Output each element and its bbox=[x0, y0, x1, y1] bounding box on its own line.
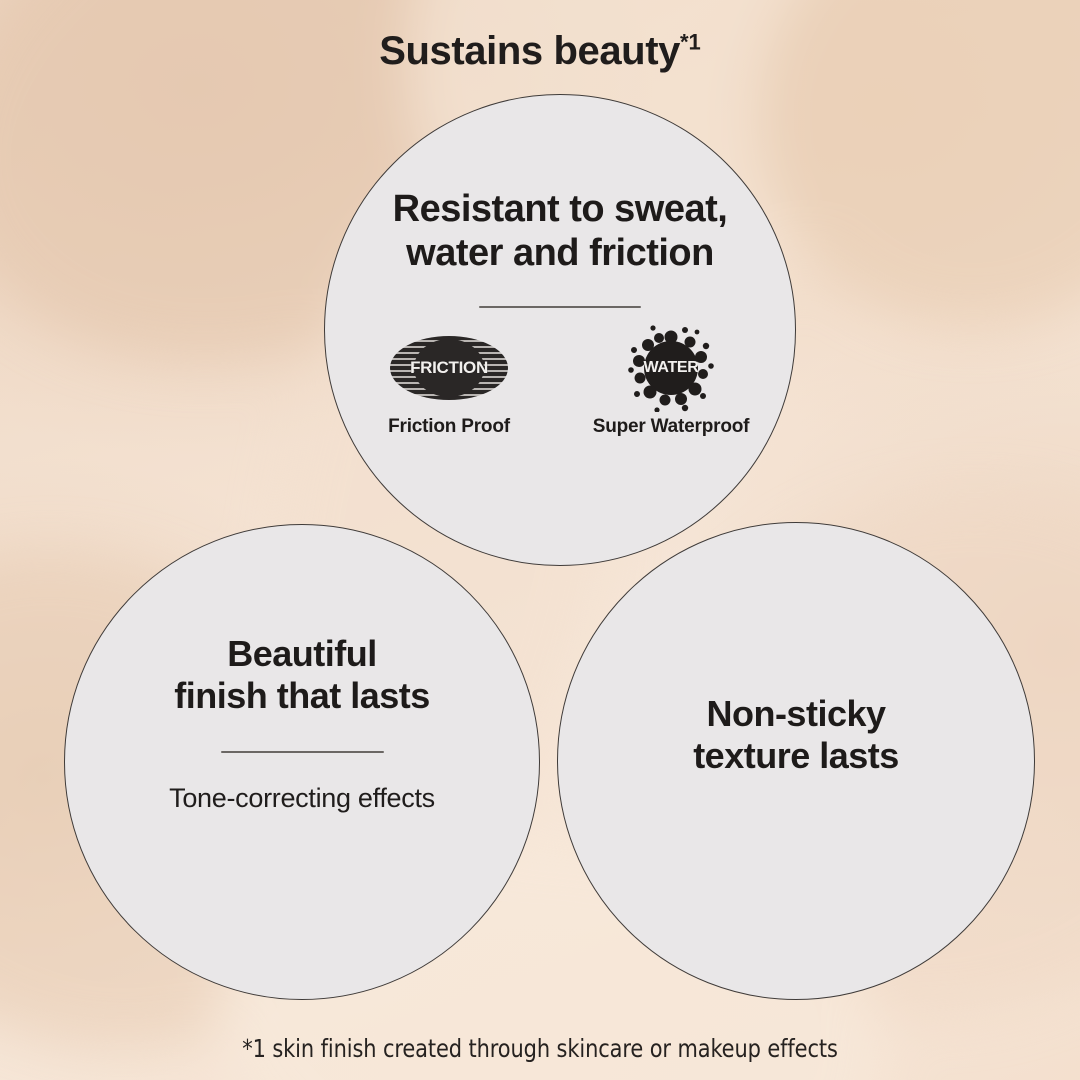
circle-resistance-divider bbox=[479, 306, 641, 308]
circle-finish-subtext: Tone-correcting effects bbox=[169, 783, 435, 814]
page-footnote: *1 skin finish created through skincare … bbox=[38, 1034, 1042, 1063]
heading-line-1: Resistant to sweat, bbox=[393, 187, 728, 231]
circle-texture: Non-sticky texture lasts bbox=[557, 522, 1035, 1000]
page-title: Sustains beauty*1 bbox=[0, 29, 1080, 74]
circle-texture-heading: Non-sticky texture lasts bbox=[693, 693, 899, 777]
circle-finish: Beautiful finish that lasts Tone-correct… bbox=[64, 524, 540, 1000]
circle-finish-divider bbox=[221, 751, 384, 753]
heading-line-2: finish that lasts bbox=[174, 675, 430, 717]
friction-mark-text: FRICTION bbox=[410, 358, 488, 378]
friction-proof-icon: FRICTION bbox=[390, 330, 508, 406]
badge-super-waterproof: WATER Super Waterproof bbox=[596, 330, 746, 438]
badge-friction-proof: FRICTION Friction Proof bbox=[374, 330, 524, 438]
heading-line-2: water and friction bbox=[393, 231, 728, 275]
heading-line-1: Beautiful bbox=[174, 633, 430, 675]
badge-label-friction: Friction Proof bbox=[388, 416, 510, 438]
circle-finish-heading: Beautiful finish that lasts bbox=[174, 633, 430, 717]
badge-label-waterproof: Super Waterproof bbox=[593, 416, 750, 438]
heading-line-2: texture lasts bbox=[693, 735, 899, 777]
super-waterproof-icon: WATER bbox=[627, 330, 715, 406]
circle-resistance: Resistant to sweat, water and friction F… bbox=[324, 94, 796, 566]
circle-resistance-heading: Resistant to sweat, water and friction bbox=[393, 187, 728, 275]
water-splash-shape: WATER bbox=[627, 324, 715, 412]
water-mark-text: WATER bbox=[643, 359, 698, 377]
heading-line-1: Non-sticky bbox=[693, 693, 899, 735]
page-title-text: Sustains beauty bbox=[379, 29, 680, 73]
infographic-canvas: Sustains beauty*1 Resistant to sweat, wa… bbox=[0, 0, 1080, 1080]
friction-stripe-ellipse: FRICTION bbox=[390, 336, 508, 400]
badge-row: FRICTION Friction Proof bbox=[374, 330, 746, 438]
page-title-footnote-marker: *1 bbox=[680, 30, 701, 55]
